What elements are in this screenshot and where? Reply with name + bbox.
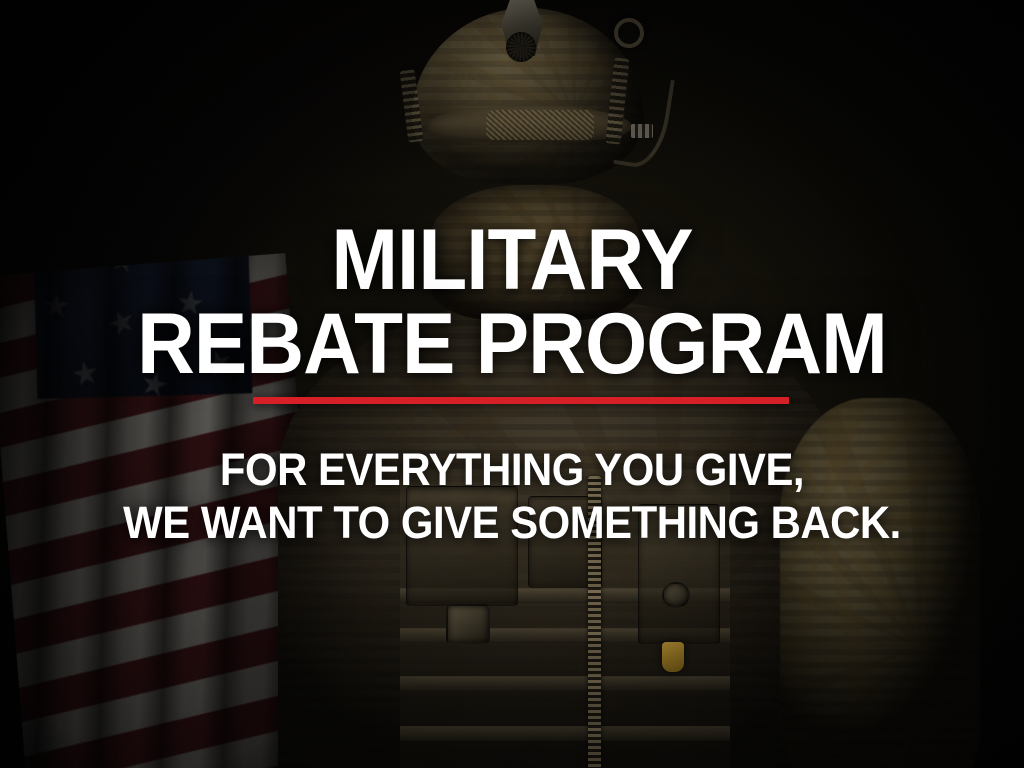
molle-webbing (400, 676, 730, 691)
combat-helmet (398, 2, 660, 207)
soldier-right-arm (780, 398, 980, 768)
molle-webbing (400, 726, 730, 741)
camo-pattern-sleeve (780, 398, 980, 768)
vest-zipper (588, 476, 601, 768)
promotional-banner: MILITARY REBATE PROGRAM FOR EVERYTHING Y… (0, 0, 1024, 768)
helmet-velcro-patch (486, 110, 594, 140)
plate-carrier-vest (400, 470, 730, 768)
vest-pull-tab (662, 642, 684, 672)
gear-pouch (638, 504, 720, 644)
helmet-accessory-ring (614, 18, 644, 48)
gear-pouch (406, 486, 518, 606)
vest-buckle (446, 604, 490, 644)
background-photograph (0, 0, 1024, 768)
nvg-mount-dial (506, 32, 536, 62)
helmet-ir-tab (631, 124, 653, 138)
vest-buckle (662, 582, 690, 608)
